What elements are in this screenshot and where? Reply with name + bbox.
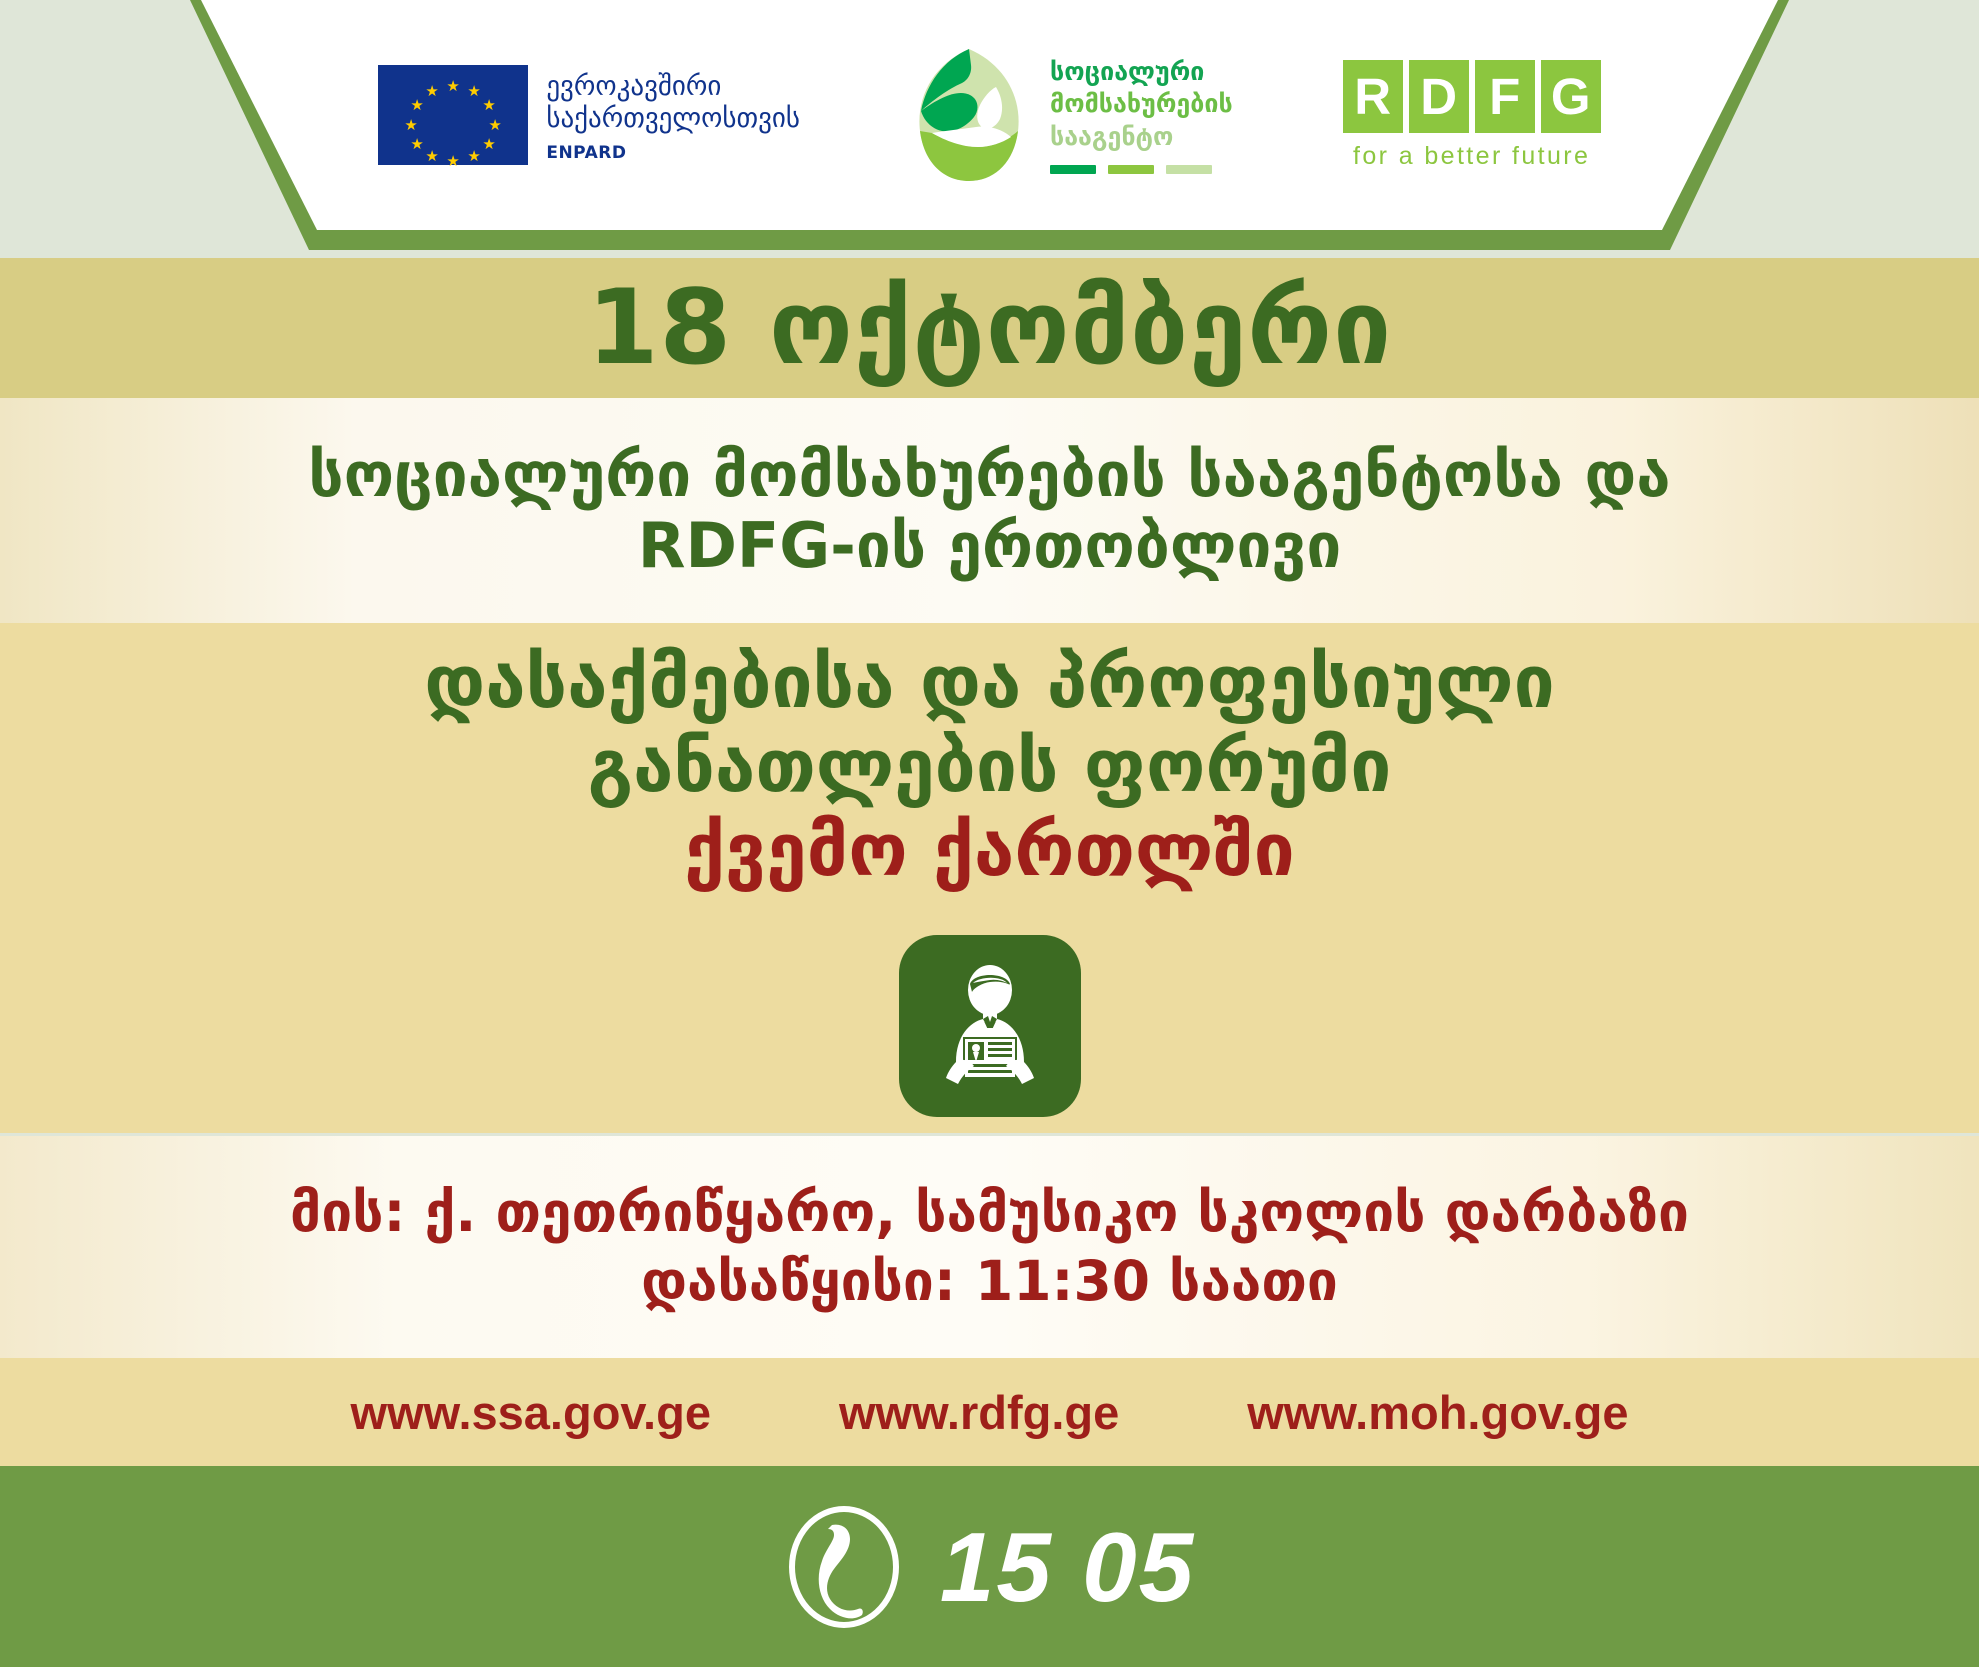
details-band: მის: ქ. თეთრიწყარო, სამუსიკო სკოლის დარბ… [0, 1136, 1979, 1358]
header-band: ★ ★ ★ ★ ★ ★ ★ ★ ★ ★ ★ ★ ევროკავშირი საქა… [0, 0, 1979, 258]
forum-band: დასაქმებისა და პროფესიული განათლების ფორ… [0, 623, 1979, 1133]
subtitle-band: სოციალური მომსახურების სააგენტოსა და RDF… [0, 398, 1979, 623]
rdfg-tagline: for a better future [1343, 142, 1601, 171]
logo-row: ★ ★ ★ ★ ★ ★ ★ ★ ★ ★ ★ ★ ევროკავშირი საქა… [0, 0, 1979, 230]
event-start-time: დასაწყისი: 11:30 საათი [641, 1247, 1338, 1316]
rdfg-letter-squares: R D F G [1343, 60, 1601, 133]
forum-title-line-1: დასაქმებისა და პროფესიული [0, 641, 1979, 725]
hotline-number: 15 05 [940, 1518, 1195, 1616]
eu-flag-icon: ★ ★ ★ ★ ★ ★ ★ ★ ★ ★ ★ ★ [378, 65, 528, 165]
event-date: 18 ოქტომბერი [587, 277, 1392, 380]
rdfg-logo: R D F G for a better future [1343, 60, 1601, 171]
rdfg-letter-f: F [1475, 60, 1535, 133]
subtitle-line-1: სოციალური მომსახურების სააგენტოსა და [308, 440, 1670, 511]
eu-logo-line2: საქართველოსთვის [546, 103, 800, 135]
ssa-logo-text: სოციალური მომსახურების სააგენტო [1050, 56, 1233, 175]
rdfg-letter-d: D [1409, 60, 1469, 133]
ssa-logo-line3: სააგენტო [1050, 121, 1233, 154]
enpard-label: ENPARD [546, 143, 800, 163]
rdfg-letter-g: G [1541, 60, 1601, 133]
eu-logo-line1: ევროკავშირი [546, 71, 800, 103]
forum-icon-wrap [899, 935, 1081, 1117]
link-ssa-gov-ge[interactable]: www.ssa.gov.ge [351, 1385, 711, 1440]
footer-hotline-band: 15 05 [0, 1466, 1979, 1667]
poster-root: ★ ★ ★ ★ ★ ★ ★ ★ ★ ★ ★ ★ ევროკავშირი საქა… [0, 0, 1979, 1667]
hands-leaf-icon [910, 47, 1028, 183]
forum-title: დასაქმებისა და პროფესიული განათლების ფორ… [0, 641, 1979, 893]
date-banner: 18 ოქტომბერი [0, 258, 1979, 398]
rdfg-letter-r: R [1343, 60, 1403, 133]
phone-icon [784, 1503, 904, 1631]
ssa-logo-line1: სოციალური [1050, 56, 1233, 89]
ssa-logo-bars [1050, 165, 1233, 174]
eu-logo-text: ევროკავშირი საქართველოსთვის ENPARD [546, 65, 800, 163]
certificate-holder-icon [899, 935, 1081, 1117]
subtitle-line-2: RDFG-ის ერთობლივი [638, 511, 1342, 582]
certificate-holder-glyph [926, 962, 1054, 1090]
website-links-band: www.ssa.gov.ge www.rdfg.ge www.moh.gov.g… [0, 1358, 1979, 1466]
link-moh-gov-ge[interactable]: www.moh.gov.ge [1247, 1385, 1628, 1440]
forum-title-line-2: განათლების ფორუმი [0, 725, 1979, 809]
event-address: მის: ქ. თეთრიწყარო, სამუსიკო სკოლის დარბ… [290, 1178, 1689, 1247]
link-rdfg-ge[interactable]: www.rdfg.ge [839, 1385, 1119, 1440]
european-union-enpard-logo: ★ ★ ★ ★ ★ ★ ★ ★ ★ ★ ★ ★ ევროკავშირი საქა… [378, 65, 800, 165]
ssa-logo-line2: მომსახურების [1050, 88, 1233, 121]
forum-title-line-3: ქვემო ქართლში [0, 809, 1979, 893]
social-service-agency-logo: სოციალური მომსახურების სააგენტო [910, 47, 1233, 183]
